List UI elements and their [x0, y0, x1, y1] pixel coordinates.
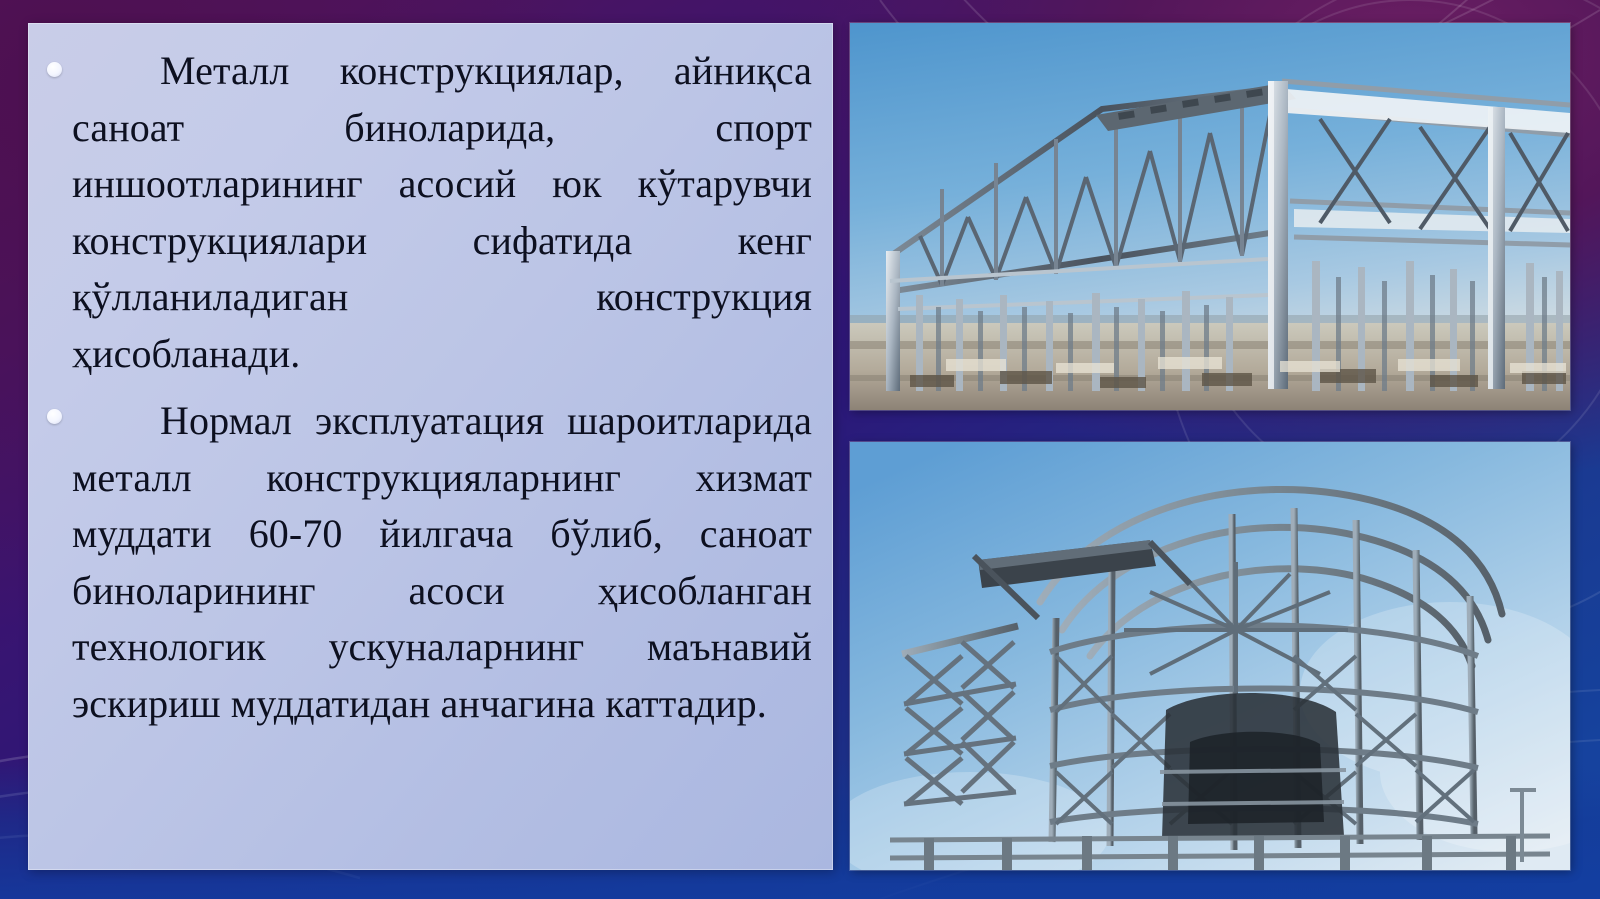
content-text-panel: Металл конструкциялар, айниқса саноат би…	[28, 23, 833, 870]
slide: Металл конструкциялар, айниқса саноат би…	[0, 0, 1600, 899]
bullet-dot-icon	[47, 409, 62, 424]
bullet-1-text: Металл конструкциялар, айниқса саноат би…	[72, 48, 812, 376]
bullet-2-text: Нормал эксплуатация шароитларида металл …	[72, 398, 812, 726]
lattice-tower-illustration	[850, 442, 1570, 870]
bullet-dot-icon	[47, 62, 62, 77]
bullet-item-1: Металл конструкциялар, айниқса саноат би…	[28, 43, 833, 382]
steel-truss-illustration	[850, 23, 1570, 410]
steel-truss-warehouse-frame-photo	[850, 23, 1570, 410]
cylindrical-steel-lattice-tower-photo	[850, 442, 1570, 870]
bullet-item-2: Нормал эксплуатация шароитларида металл …	[28, 393, 833, 732]
